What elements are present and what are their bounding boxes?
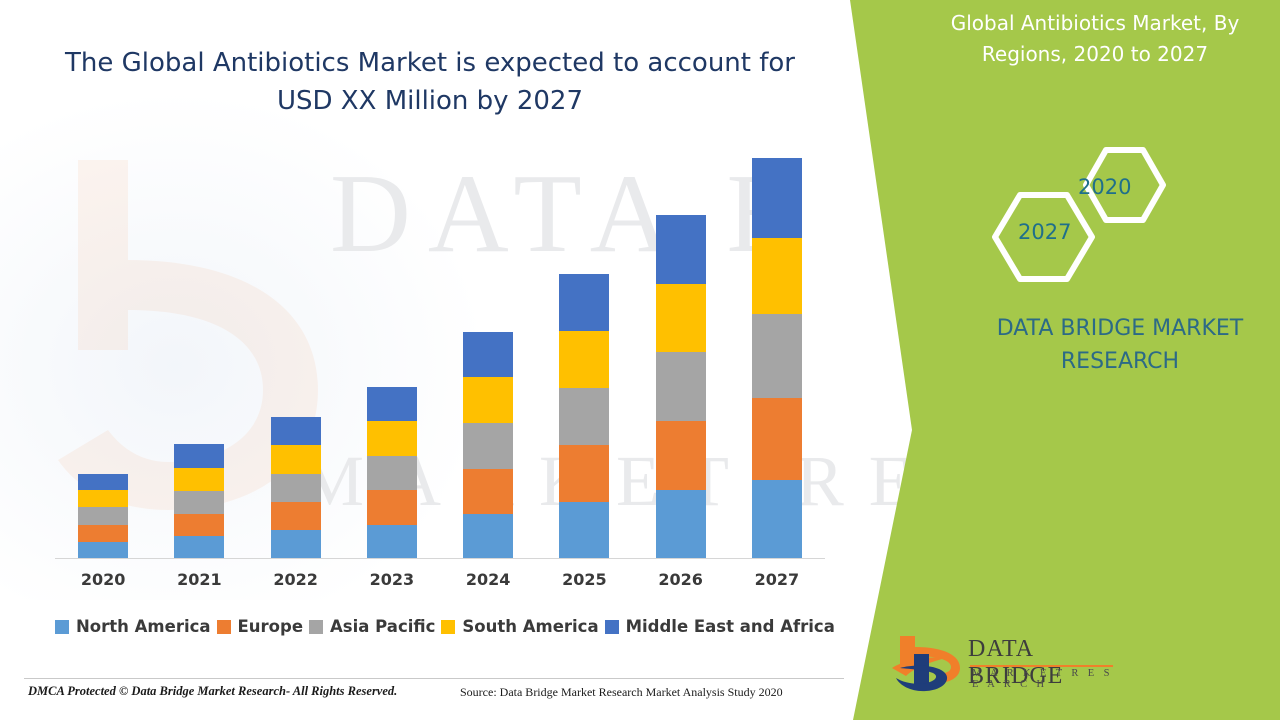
chart-bar-segment (78, 525, 128, 542)
chart-x-tick-label: 2027 (729, 570, 825, 589)
hexagon-group: 2020 2027 (975, 140, 1185, 285)
brand-name: DATA BRIDGE MARKET RESEARCH (960, 312, 1280, 378)
logo-tagline: M A R K E T R E S E A R C H (972, 668, 1120, 690)
chart-bar-segment (752, 480, 802, 559)
chart-bar (656, 215, 706, 559)
hexagon-label-start-year: 2020 (1078, 175, 1131, 199)
chart-bar-segment (78, 542, 128, 559)
chart-x-tick-labels: 20202021202220232024202520262027 (55, 570, 825, 596)
chart-bar-segment (752, 398, 802, 481)
legend-swatch (441, 620, 455, 634)
chart-bar-segment (463, 423, 513, 468)
legend-label: South America (462, 617, 598, 636)
chart-bar (78, 474, 128, 559)
chart-bar-segment (656, 421, 706, 490)
chart-bar-segment (271, 474, 321, 502)
chart-bar-segment (559, 445, 609, 502)
chart-bar-segment (463, 332, 513, 377)
legend-item[interactable]: Asia Pacific (309, 617, 435, 636)
chart-bar (174, 444, 224, 559)
legend-label: Asia Pacific (330, 617, 435, 636)
chart-bar-segment (367, 490, 417, 524)
legend-swatch (605, 620, 619, 634)
chart-bar-segment (559, 274, 609, 331)
chart-bar-segment (656, 284, 706, 353)
chart-bar-segment (559, 388, 609, 445)
legend-item[interactable]: South America (441, 617, 598, 636)
chart-bar-segment (174, 536, 224, 559)
chart-bar-segment (367, 387, 417, 421)
legend-item[interactable]: Europe (217, 617, 304, 636)
chart-x-tick-label: 2024 (440, 570, 536, 589)
legend-swatch (309, 620, 323, 634)
chart-bar-segment (271, 445, 321, 474)
hexagon-label-end-year: 2027 (1018, 220, 1071, 244)
chart-bar-segment (174, 491, 224, 514)
chart-bar-segment (271, 502, 321, 530)
legend-label: Middle East and Africa (626, 617, 835, 636)
chart-bar-segment (656, 215, 706, 284)
logo-underline (970, 665, 1113, 667)
chart-x-axis (55, 558, 825, 559)
chart-bar-segment (174, 514, 224, 537)
chart-x-tick-label: 2021 (151, 570, 247, 589)
chart-bar-segment (752, 158, 802, 239)
company-logo: DATA BRIDGE M A R K E T R E S E A R C H (890, 634, 1120, 694)
chart-bar-segment (559, 331, 609, 388)
chart-x-tick-label: 2026 (633, 570, 729, 589)
legend-swatch (217, 620, 231, 634)
panel-title: Global Antibiotics Market, By Regions, 2… (930, 8, 1260, 70)
chart-bar (463, 332, 513, 559)
chart-bar-segment (367, 525, 417, 559)
chart-bar-segment (78, 507, 128, 524)
chart-bar (559, 274, 609, 559)
chart-legend: North AmericaEuropeAsia PacificSouth Ame… (55, 617, 830, 636)
chart-bar-segment (367, 456, 417, 490)
chart-bar-segment (271, 417, 321, 445)
chart-bar-segment (174, 468, 224, 492)
legend-item[interactable]: Middle East and Africa (605, 617, 835, 636)
chart-bar-segment (271, 530, 321, 559)
chart-bar (752, 158, 802, 559)
chart-bar-segment (463, 377, 513, 423)
infographic-page: DATA B MARKET RESEARCH The Global Antibi… (0, 0, 1280, 720)
chart-bar (367, 387, 417, 559)
chart-bar-segment (656, 490, 706, 559)
footer-divider (24, 678, 844, 679)
chart-x-tick-label: 2023 (344, 570, 440, 589)
chart-plot-area (55, 150, 825, 559)
chart-bar-segment (559, 502, 609, 559)
chart-bar-segment (367, 421, 417, 455)
data-bridge-b-logo-icon (890, 634, 965, 692)
legend-label: North America (76, 617, 211, 636)
copyright-notice: DMCA Protected © Data Bridge Market Rese… (28, 684, 397, 699)
chart-x-tick-label: 2020 (55, 570, 151, 589)
hexagon-outline-icon (975, 140, 1185, 285)
chart-bar-segment (78, 490, 128, 507)
chart: 20202021202220232024202520262027 North A… (0, 0, 850, 720)
chart-bar (271, 417, 321, 559)
chart-bar-segment (463, 514, 513, 559)
legend-label: Europe (238, 617, 304, 636)
chart-bar-segment (752, 238, 802, 313)
source-note: Source: Data Bridge Market Research Mark… (460, 685, 783, 700)
legend-swatch (55, 620, 69, 634)
chart-bar-segment (463, 469, 513, 514)
chart-bar-segment (174, 444, 224, 468)
chart-bar-segment (752, 314, 802, 398)
legend-item[interactable]: North America (55, 617, 211, 636)
chart-bar-segment (656, 352, 706, 421)
chart-x-tick-label: 2022 (248, 570, 344, 589)
chart-bar-segment (78, 474, 128, 490)
chart-x-tick-label: 2025 (536, 570, 632, 589)
